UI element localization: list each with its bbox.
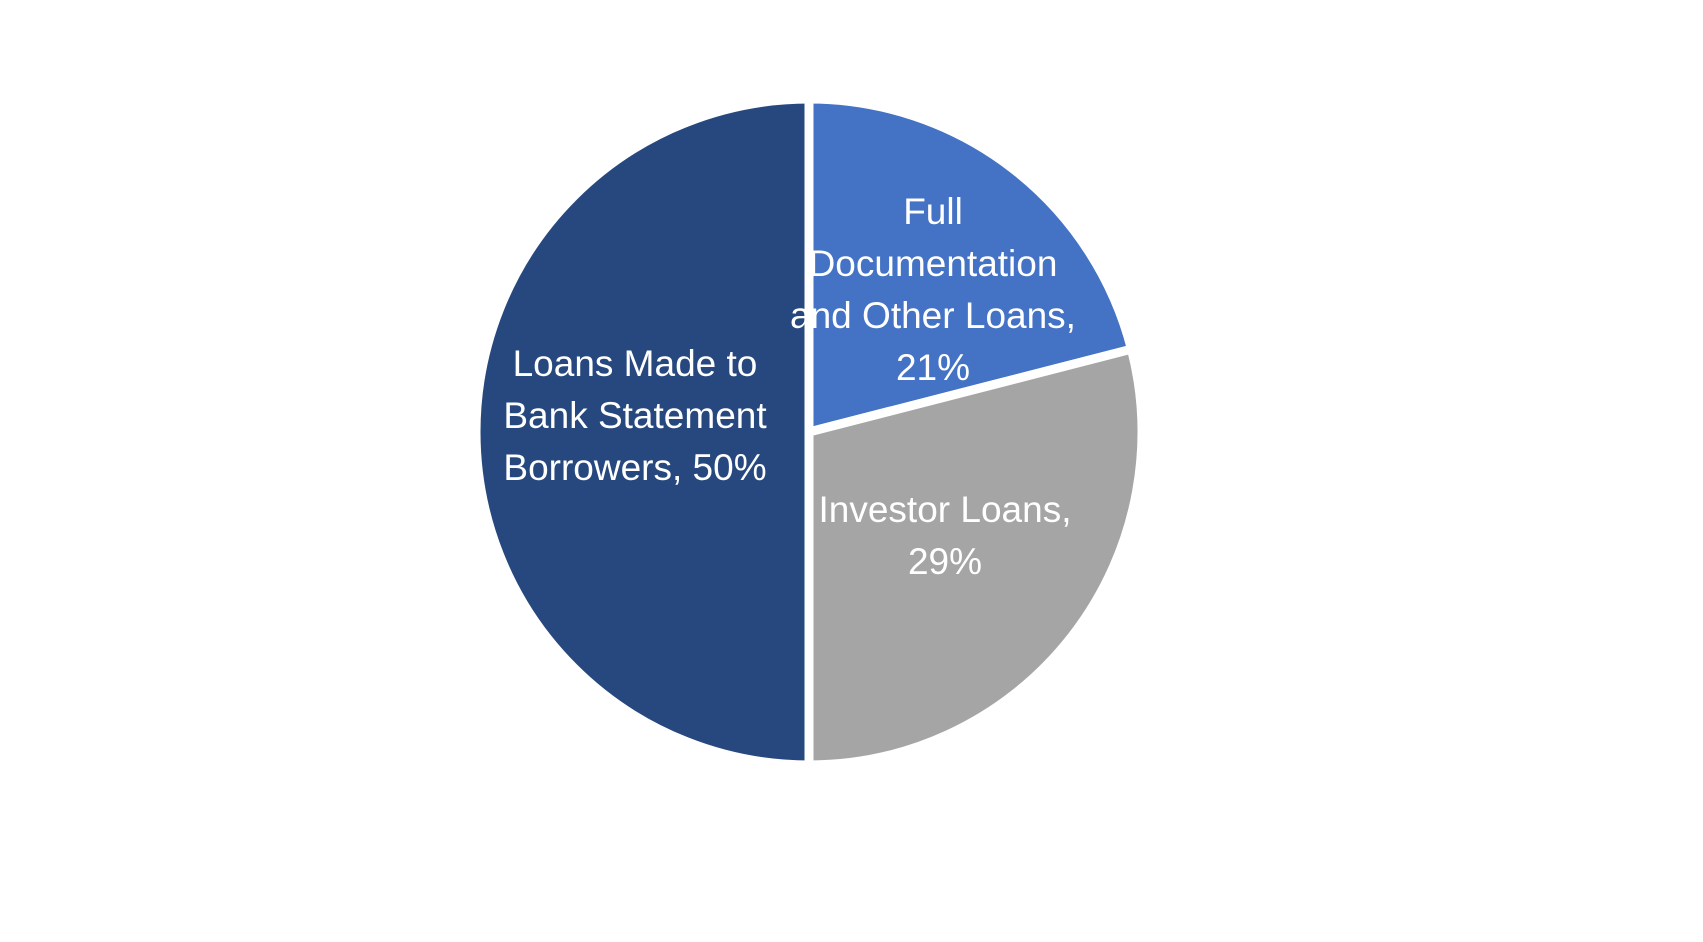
pie-slice-bank-statement-loans[interactable] xyxy=(476,99,809,765)
pie-chart-canvas xyxy=(0,0,1703,942)
pie-chart-figure: Loans Made to Bank Statement Borrowers, … xyxy=(0,0,1703,942)
